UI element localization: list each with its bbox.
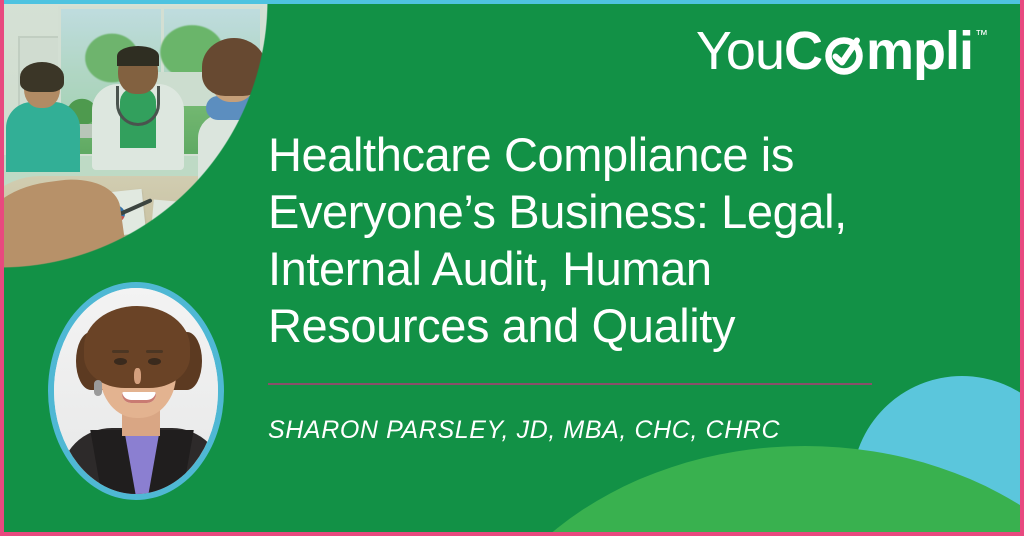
border-right xyxy=(1020,0,1024,536)
trademark-symbol: ™ xyxy=(975,28,988,41)
headline-line-3: Internal Audit, Human xyxy=(268,242,712,295)
headline-line-4: Resources and Quality xyxy=(268,299,735,352)
logo-text-you: You xyxy=(696,21,784,81)
page-title: Healthcare Compliance is Everyone’s Busi… xyxy=(268,126,968,354)
portrait-mouth xyxy=(122,392,156,403)
meeting-photo-scene xyxy=(0,0,272,268)
logo-wordmark: YouC mpli xyxy=(696,22,973,80)
border-top xyxy=(0,0,1024,4)
speaker-portrait-avatar xyxy=(48,282,224,500)
portrait-eyebrow-left xyxy=(112,350,129,353)
youcompli-logo[interactable]: YouC mpli ™ xyxy=(696,22,988,80)
divider xyxy=(268,383,872,385)
check-in-circle-icon xyxy=(821,30,867,76)
content-block: Healthcare Compliance is Everyone’s Busi… xyxy=(268,126,968,445)
border-left xyxy=(0,0,4,536)
border-bottom xyxy=(0,532,1024,536)
meeting-photo xyxy=(0,0,272,268)
portrait-eyebrow-right xyxy=(146,350,163,353)
headline-line-2: Everyone’s Business: Legal, xyxy=(268,185,847,238)
speaker-name-credentials: SHARON PARSLEY, JD, MBA, CHC, CHRC xyxy=(268,415,968,445)
portrait-nose xyxy=(134,368,141,384)
logo-text-c: C xyxy=(784,21,822,81)
portrait-eye-right xyxy=(148,358,161,365)
photo-green-tint-overlay xyxy=(0,0,272,268)
portrait-earring xyxy=(94,380,102,396)
webinar-banner: YouC mpli ™ Healthcare Compliance is Eve… xyxy=(0,0,1024,536)
logo-text-mpli: mpli xyxy=(866,21,973,81)
portrait-eye-left xyxy=(114,358,127,365)
headline-line-1: Healthcare Compliance is xyxy=(268,128,794,181)
